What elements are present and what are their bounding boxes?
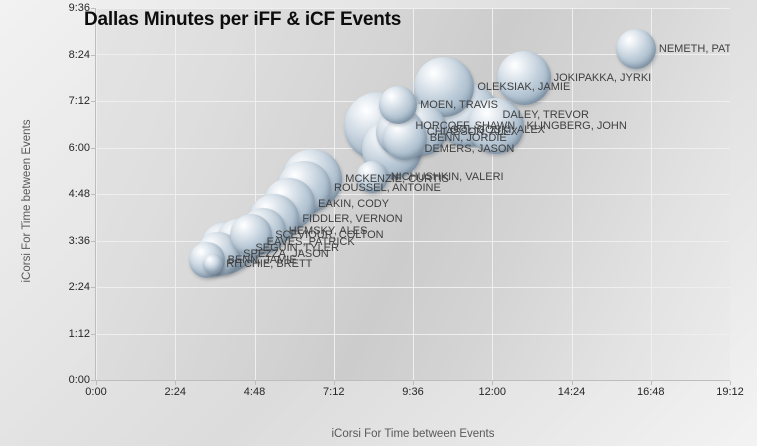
x-axis-tick-label: 12:00 xyxy=(478,386,506,398)
x-axis-tick-mark xyxy=(492,381,493,385)
data-point-label: OLEKSIAK, JAMIE xyxy=(477,81,570,93)
y-axis-tick-label: 4:48 xyxy=(44,188,90,200)
data-bubble[interactable] xyxy=(379,86,417,124)
x-axis-tick-mark xyxy=(730,381,731,385)
data-point-label: FIDDLER, VERNON xyxy=(302,213,402,225)
x-axis-tick-label: 14:24 xyxy=(558,386,586,398)
gridline-horizontal xyxy=(96,287,730,288)
y-axis-tick-label: 0:00 xyxy=(44,374,90,386)
x-axis-tick-label: 4:48 xyxy=(244,386,265,398)
plot-area: NEMETH, PATRIKJOKIPAKKA, JYRKIOLEKSIAK, … xyxy=(96,8,730,380)
gridline-horizontal xyxy=(96,334,730,335)
data-bubble[interactable] xyxy=(497,51,551,105)
x-axis-tick-label: 7:12 xyxy=(323,386,344,398)
gridline-horizontal xyxy=(96,241,730,242)
y-axis-line xyxy=(95,8,96,381)
x-axis-tick-label: 16:48 xyxy=(637,386,665,398)
x-axis-tick-label: 19:12 xyxy=(716,386,744,398)
data-point-label: NEMETH, PATRIK xyxy=(659,43,730,55)
y-axis-tick-label: 8:24 xyxy=(44,49,90,61)
x-axis-tick-mark xyxy=(175,381,176,385)
data-point-label: EAKIN, CODY xyxy=(318,198,389,210)
data-point-label: ROUSSEL, ANTOINE xyxy=(334,182,441,194)
x-axis-tick-label: 9:36 xyxy=(402,386,423,398)
x-axis-tick-label: 2:24 xyxy=(165,386,186,398)
bubble-chart: NEMETH, PATRIKJOKIPAKKA, JYRKIOLEKSIAK, … xyxy=(0,0,757,446)
x-axis-title: iCorsi For Time between Events xyxy=(96,428,730,440)
x-axis-tick-mark xyxy=(572,381,573,385)
y-axis-title: iCorsi For Time between Events xyxy=(21,106,33,296)
data-point-label: BENN, JORDIE xyxy=(430,132,507,144)
x-axis-tick-mark xyxy=(413,381,414,385)
y-axis-tick-label: 7:12 xyxy=(44,95,90,107)
y-axis-tick-labels: 0:001:122:243:364:486:007:128:249:36 xyxy=(38,0,90,446)
x-axis-tick-label: 0:00 xyxy=(85,386,106,398)
data-point-label: BENN, JAMIE xyxy=(228,254,297,266)
chart-title: Dallas Minutes per iFF & iCF Events xyxy=(84,9,401,31)
data-point-label: DEMERS, JASON xyxy=(425,143,515,155)
y-axis-tick-label: 1:12 xyxy=(44,328,90,340)
y-axis-tick-label: 6:00 xyxy=(44,142,90,154)
y-axis-tick-label: 2:24 xyxy=(44,281,90,293)
x-axis-tick-mark xyxy=(96,381,97,385)
data-bubble[interactable] xyxy=(616,29,656,69)
data-point-label: MOEN, TRAVIS xyxy=(420,99,498,111)
x-axis-line xyxy=(96,380,730,381)
x-axis-tick-mark xyxy=(651,381,652,385)
x-axis-tick-mark xyxy=(255,381,256,385)
y-axis-tick-label: 3:36 xyxy=(44,235,90,247)
x-axis-tick-mark xyxy=(334,381,335,385)
data-point-label: DALEY, TREVOR xyxy=(502,109,588,121)
data-bubble[interactable] xyxy=(203,254,223,274)
